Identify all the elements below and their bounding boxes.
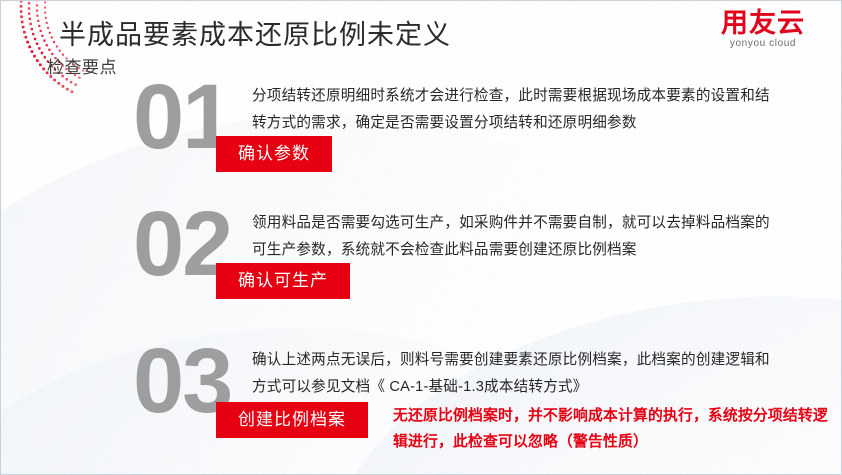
step-tag-badge: 确认可生产 [216, 263, 350, 299]
warning-note: 无还原比例档案时，并不影响成本计算的执行，系统按分项结转逻辑进行，此检查可以忽略… [393, 403, 833, 455]
slide-canvas: 半成品要素成本还原比例未定义 检查要点 用友云 yonyou cloud 01 … [0, 0, 842, 475]
step-paragraph: 领用料品是否需要勾选可生产，如采购件并不需要自制，就可以去掉料品档案的可生产参数… [252, 210, 782, 264]
step-paragraph: 确认上述两点无误后，则料号需要创建要素还原比例档案，此档案的创建逻辑和方式可以参… [252, 347, 782, 401]
page-subtitle: 检查要点 [47, 53, 117, 78]
brand-logo-cn: 用友云 [703, 9, 823, 37]
brand-logo-en: yonyou cloud [703, 38, 823, 49]
step-tag-badge: 创建比例档案 [216, 402, 368, 438]
brand-logo: 用友云 yonyou cloud [703, 9, 823, 49]
step-paragraph: 分项结转还原明细时系统才会进行检查，此时需要根据现场成本要素的设置和结转方式的需… [252, 83, 782, 137]
step-tag-badge: 确认参数 [216, 136, 332, 172]
page-title: 半成品要素成本还原比例未定义 [59, 13, 451, 52]
